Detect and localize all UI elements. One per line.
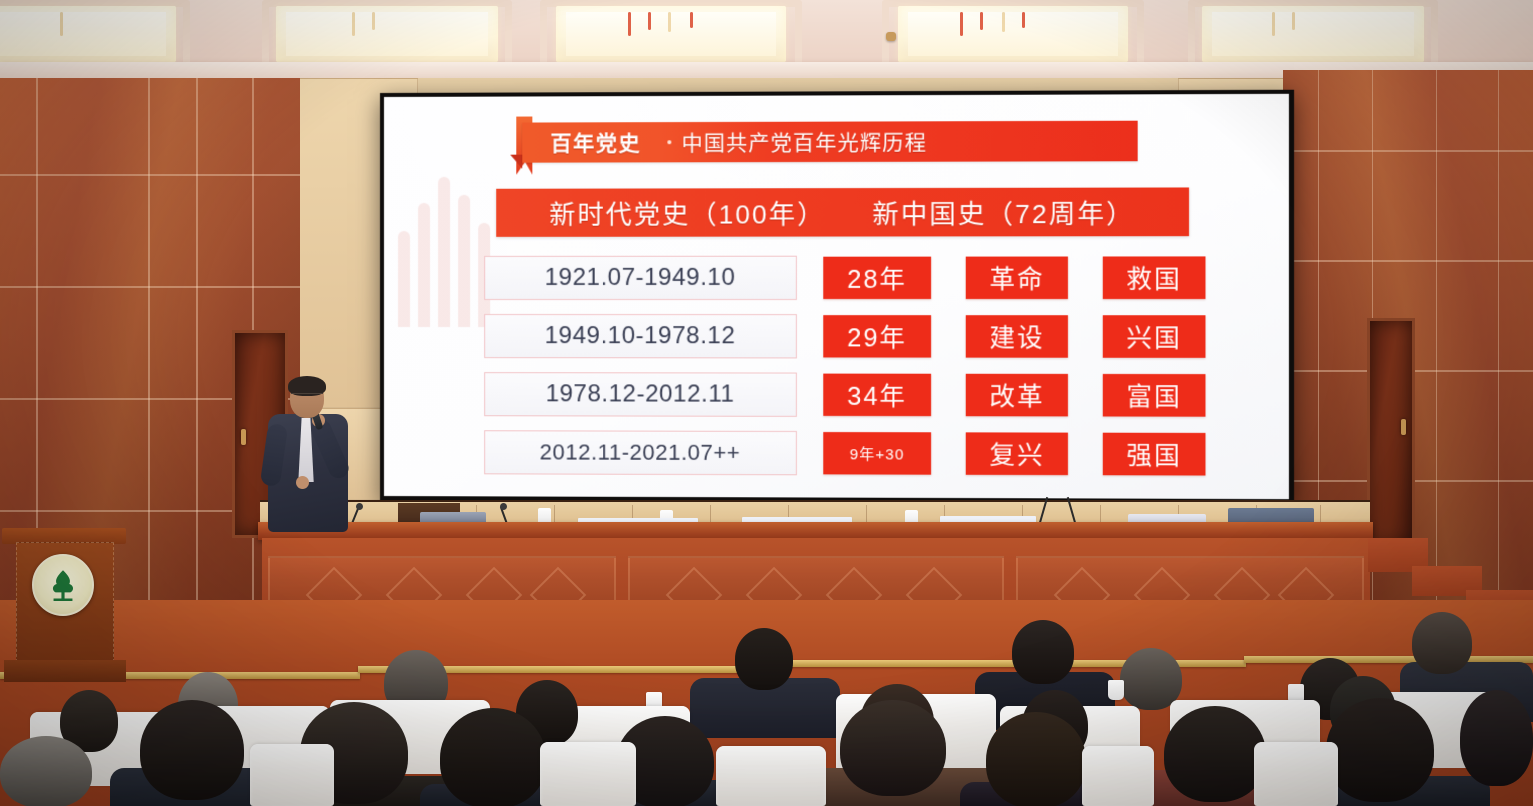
audience-head — [140, 700, 244, 800]
podium — [4, 528, 124, 688]
table-row: 2012.11-2021.07++ 9年+30 复兴 强国 — [484, 429, 1205, 477]
tree-emblem-icon — [32, 554, 94, 616]
cup-icon — [1108, 680, 1124, 700]
period-cell: 1978.12-2012.11 — [484, 372, 796, 417]
conference-hall-scene: 百年党史 中国共产党百年光辉历程 新时代党史（100年） 新中国史（72周年） … — [0, 0, 1533, 806]
audience-head — [840, 700, 946, 796]
theme-badge: 复兴 — [966, 432, 1068, 475]
duration-badge: 34年 — [823, 374, 932, 417]
glasses-icon — [291, 393, 323, 399]
slide-header-bar: 新时代党史（100年） 新中国史（72周年） — [496, 187, 1189, 236]
speaker-presenter — [262, 378, 354, 533]
history-table: 1921.07-1949.10 28年 革命 救国 1949.10-1978.1… — [484, 254, 1205, 489]
audience-chair — [716, 746, 826, 806]
ribbon-separator-dot — [667, 140, 671, 144]
audience-head — [986, 712, 1086, 806]
presentation-slide: 百年党史 中国共产党百年光辉历程 新时代党史（100年） 新中国史（72周年） … — [384, 94, 1289, 499]
audience-head — [735, 628, 793, 690]
theme-badge: 革命 — [966, 257, 1068, 300]
microphone-head-icon — [500, 503, 507, 510]
ribbon-label: 百年党史 — [550, 127, 641, 157]
audience-head — [440, 708, 546, 806]
period-cell: 1949.10-1978.12 — [484, 314, 796, 358]
table-row: 1949.10-1978.12 29年 建设 兴国 — [484, 313, 1205, 360]
table-row: 1978.12-2012.11 34年 改革 富国 — [484, 371, 1205, 419]
audience-head — [1460, 690, 1533, 786]
duration-badge: 28年 — [823, 257, 932, 299]
audience-head — [0, 736, 92, 806]
audience-head — [1164, 706, 1266, 802]
audience-head — [1412, 612, 1472, 674]
header-right-label: 新中国史（72周年） — [872, 193, 1134, 231]
goal-badge: 富国 — [1103, 374, 1206, 417]
audience-chair — [1082, 746, 1154, 806]
microphone-head-icon — [356, 503, 363, 510]
table-row: 1921.07-1949.10 28年 革命 救国 — [484, 254, 1205, 301]
duration-badge: 29年 — [823, 315, 932, 357]
duration-badge: 9年+30 — [823, 432, 932, 475]
period-cell: 1921.07-1949.10 — [484, 256, 796, 300]
ceiling-sensor-icon — [886, 32, 896, 41]
goal-badge: 强国 — [1103, 433, 1206, 476]
theme-badge: 改革 — [966, 374, 1068, 417]
header-left-label: 新时代党史（100年） — [549, 194, 825, 232]
period-cell: 2012.11-2021.07++ — [484, 430, 796, 475]
goal-badge: 兴国 — [1103, 315, 1206, 358]
ribbon-title-text: 中国共产党百年光辉历程 — [681, 126, 927, 157]
audience-chair — [540, 742, 636, 806]
audience-chair — [250, 744, 334, 806]
projection-screen[interactable]: 百年党史 中国共产党百年光辉历程 新时代党史（100年） 新中国史（72周年） … — [380, 90, 1294, 506]
slide-ribbon-title: 百年党史 中国共产党百年光辉历程 — [522, 121, 1137, 163]
audience-chair — [1254, 742, 1338, 806]
theme-badge: 建设 — [966, 315, 1068, 358]
audience-head — [1326, 698, 1434, 802]
door-right[interactable] — [1367, 318, 1415, 548]
goal-badge: 救国 — [1103, 256, 1206, 299]
audience-head — [1012, 620, 1074, 684]
